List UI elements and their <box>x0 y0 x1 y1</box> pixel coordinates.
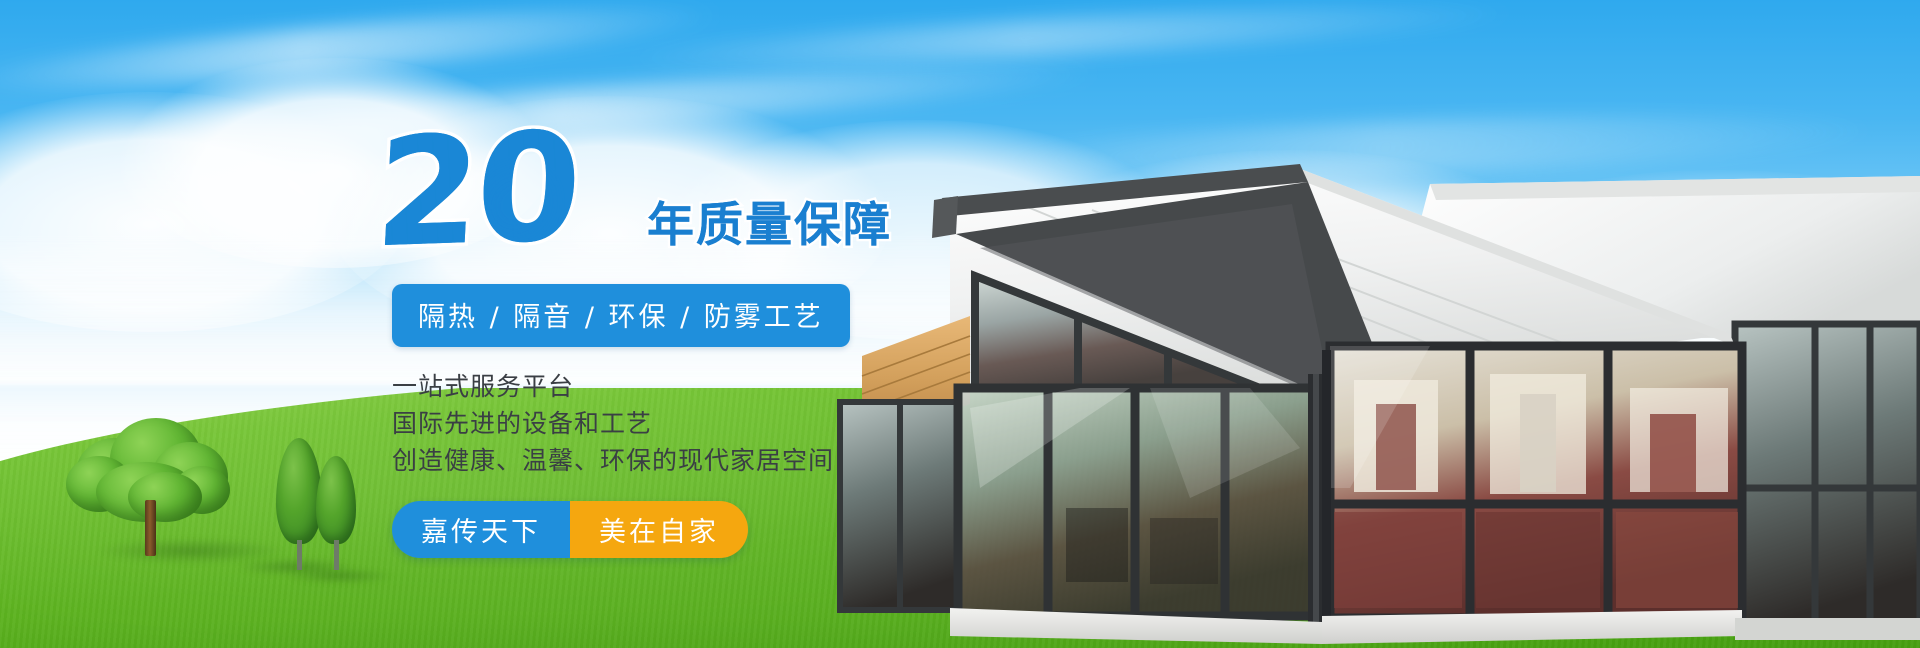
slogan-primary[interactable]: 嘉传天下 <box>392 501 570 558</box>
banner-copy: 20 20 年质量保障 年质量保障 隔热 / 隔音 / 环保 / 防雾工艺 一站… <box>392 128 1032 558</box>
slogan-pill[interactable]: 嘉传天下 美在自家 <box>392 501 748 558</box>
description-line-3: 创造健康、温馨、环保的现代家居空间 <box>392 443 1032 480</box>
description-lines: 一站式服务平台 国际先进的设备和工艺 创造健康、温馨、环保的现代家居空间 <box>392 369 1032 479</box>
cypress-tree-2 <box>316 458 356 570</box>
years-number-brushtexture: 20 <box>372 113 581 270</box>
description-line-2: 国际先进的设备和工艺 <box>392 406 1032 443</box>
headline-row: 20 20 年质量保障 年质量保障 <box>392 128 1032 258</box>
description-line-1: 一站式服务平台 <box>392 369 1032 406</box>
hero-banner: 20 20 年质量保障 年质量保障 隔热 / 隔音 / 环保 / 防雾工艺 一站… <box>0 0 1920 648</box>
slogan-secondary[interactable]: 美在自家 <box>570 501 748 558</box>
cypress-shadow-2 <box>286 568 394 584</box>
feature-badge: 隔热 / 隔音 / 环保 / 防雾工艺 <box>392 284 850 347</box>
guarantee-text: 年质量保障 <box>647 186 892 255</box>
tree-icon <box>66 416 234 556</box>
